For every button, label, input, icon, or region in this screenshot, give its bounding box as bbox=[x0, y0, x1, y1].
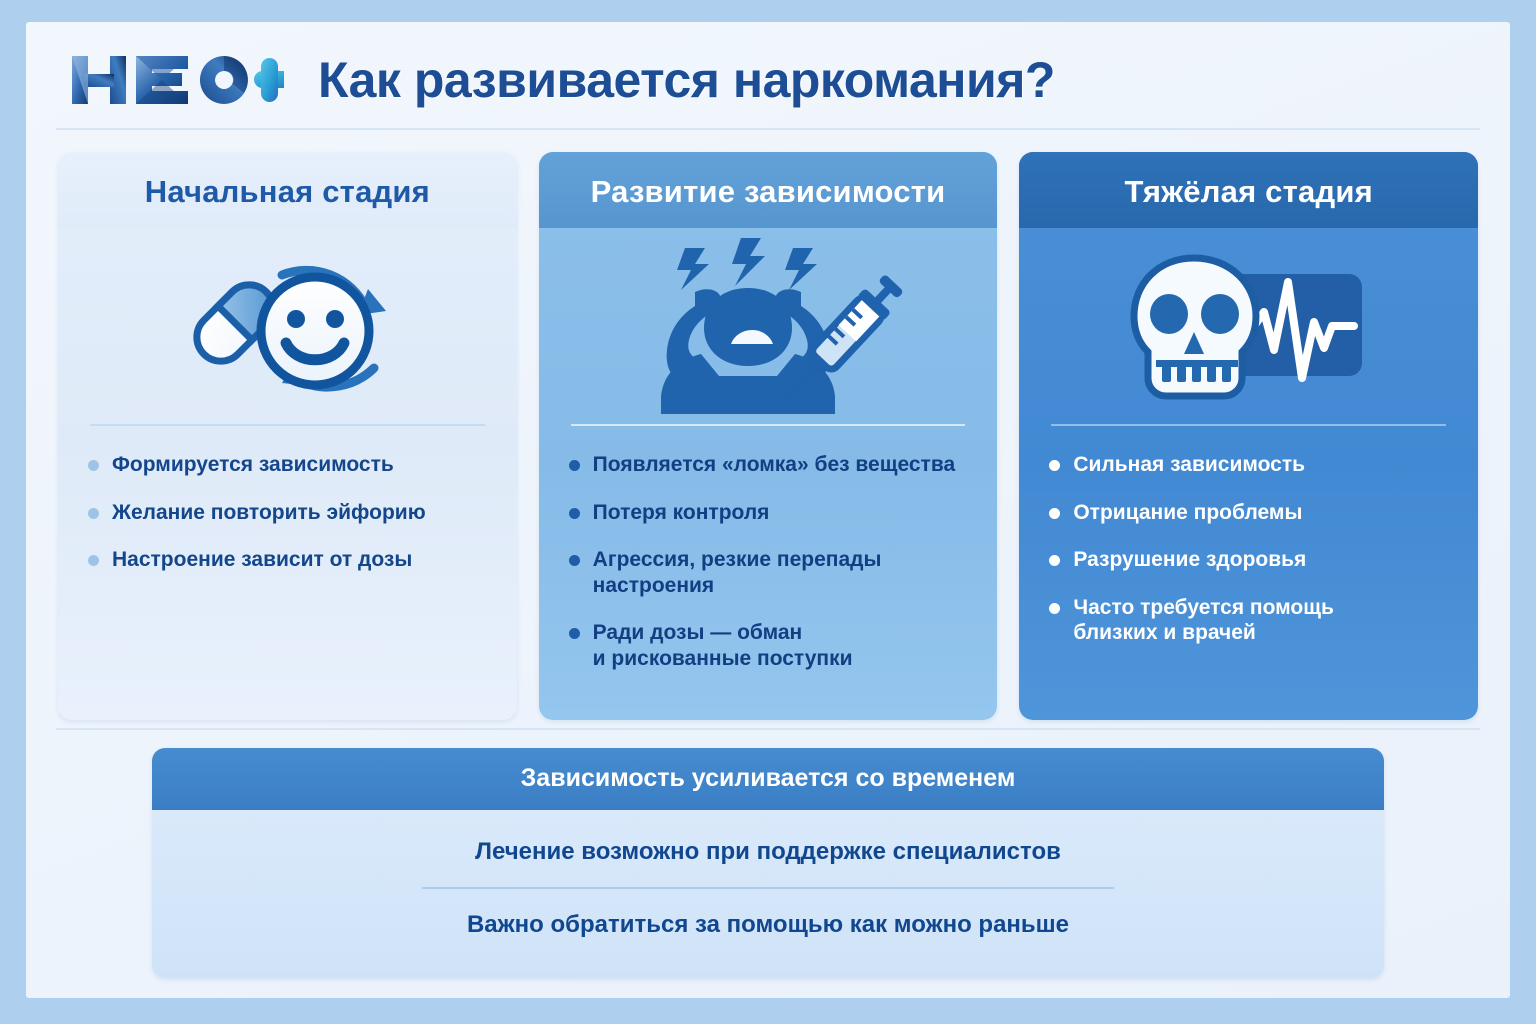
bullet-text: Потеря контроля bbox=[593, 500, 770, 526]
bullet-dot-icon bbox=[569, 508, 580, 519]
bullet-text: Формируется зависимость bbox=[112, 452, 394, 478]
bullet-dot-icon bbox=[569, 460, 580, 471]
stage-card-development[interactable]: Развитие зависимости bbox=[539, 152, 998, 720]
card-title-severe: Тяжёлая стадия bbox=[1019, 152, 1478, 228]
page-header: Как развивается наркомания? bbox=[56, 46, 1480, 130]
list-item: Ради дозы — обман и рискованные поступки bbox=[569, 620, 972, 671]
skull-ecg-icon bbox=[1019, 228, 1478, 424]
bullet-text: Агрессия, резкие перепады настроения bbox=[593, 547, 972, 598]
headache-syringe-icon bbox=[539, 228, 998, 424]
bullet-dot-icon bbox=[1049, 460, 1060, 471]
bullet-text: Разрушение здоровья bbox=[1073, 547, 1306, 573]
list-item: Сильная зависимость bbox=[1049, 452, 1452, 478]
list-item: Появляется «ломка» без вещества bbox=[569, 452, 972, 478]
bullet-text: Часто требуется помощь близких и врачей bbox=[1073, 595, 1334, 646]
bullet-dot-icon bbox=[88, 508, 99, 519]
bullet-text: Настроение зависит от дозы bbox=[112, 547, 412, 573]
footer-section: Зависимость усиливается со временем Лече… bbox=[56, 728, 1480, 978]
bullet-text: Отрицание проблемы bbox=[1073, 500, 1302, 526]
bullet-dot-icon bbox=[88, 555, 99, 566]
bullet-dot-icon bbox=[88, 460, 99, 471]
bullet-text: Появляется «ломка» без вещества bbox=[593, 452, 955, 478]
bullet-list-development: Появляется «ломка» без вещества Потеря к… bbox=[539, 426, 998, 692]
summary-panel: Зависимость усиливается со временем Лече… bbox=[152, 748, 1384, 978]
card-body-initial: Формируется зависимость Желание повторит… bbox=[58, 228, 517, 720]
stage-card-initial[interactable]: Начальная стадия bbox=[58, 152, 517, 720]
list-item: Желание повторить эйфорию bbox=[88, 500, 491, 526]
list-item: Разрушение здоровья bbox=[1049, 547, 1452, 573]
bullet-dot-icon bbox=[569, 555, 580, 566]
summary-line: Важно обратиться за помощью как можно ра… bbox=[152, 889, 1384, 960]
pill-smiley-cycle-icon bbox=[58, 228, 517, 424]
list-item: Отрицание проблемы bbox=[1049, 500, 1452, 526]
bullet-dot-icon bbox=[1049, 555, 1060, 566]
neo-plus-logo bbox=[70, 50, 284, 110]
infographic-canvas: Как развивается наркомания? Начальная ст… bbox=[26, 22, 1510, 998]
list-item: Формируется зависимость bbox=[88, 452, 491, 478]
bullet-text: Ради дозы — обман и рискованные поступки bbox=[593, 620, 853, 671]
bullet-list-initial: Формируется зависимость Желание повторит… bbox=[58, 426, 517, 593]
summary-line: Лечение возможно при поддержке специалис… bbox=[152, 816, 1384, 887]
bullet-list-severe: Сильная зависимость Отрицание проблемы Р… bbox=[1019, 426, 1478, 666]
list-item: Потеря контроля bbox=[569, 500, 972, 526]
stage-cards: Начальная стадия bbox=[56, 130, 1480, 720]
card-body-severe: Сильная зависимость Отрицание проблемы Р… bbox=[1019, 228, 1478, 720]
page-title: Как развивается наркомания? bbox=[318, 51, 1055, 109]
summary-headline: Зависимость усиливается со временем bbox=[152, 748, 1384, 810]
list-item: Часто требуется помощь близких и врачей bbox=[1049, 595, 1452, 646]
card-body-development: Появляется «ломка» без вещества Потеря к… bbox=[539, 228, 998, 720]
bullet-text: Сильная зависимость bbox=[1073, 452, 1305, 478]
card-title-initial: Начальная стадия bbox=[58, 152, 517, 228]
bullet-text: Желание повторить эйфорию bbox=[112, 500, 426, 526]
list-item: Агрессия, резкие перепады настроения bbox=[569, 547, 972, 598]
summary-body: Лечение возможно при поддержке специалис… bbox=[152, 810, 1384, 978]
bullet-dot-icon bbox=[1049, 508, 1060, 519]
bullet-dot-icon bbox=[569, 628, 580, 639]
stage-card-severe[interactable]: Тяжёлая стадия bbox=[1019, 152, 1478, 720]
card-title-development: Развитие зависимости bbox=[539, 152, 998, 228]
list-item: Настроение зависит от дозы bbox=[88, 547, 491, 573]
bullet-dot-icon bbox=[1049, 603, 1060, 614]
